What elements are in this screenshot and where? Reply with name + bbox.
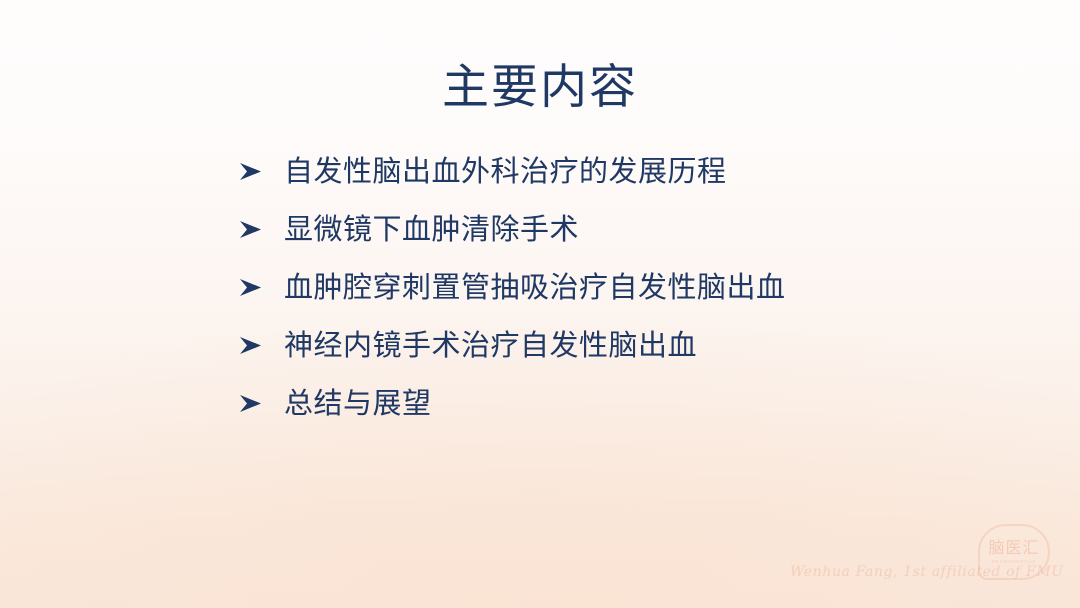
- agenda-list: 自发性脑出血外科治疗的发展历程 显微镜下血肿清除手术 血肿腔穿刺置管抽吸治疗自发…: [238, 152, 1018, 442]
- watermark-byline: Wenhua Fang, 1st affiliated of FMU: [790, 563, 1064, 581]
- list-item-label: 显微镜下血肿清除手术: [284, 210, 1018, 250]
- list-item-label: 血肿腔穿刺置管抽吸治疗自发性脑出血: [284, 268, 1018, 308]
- list-item: 自发性脑出血外科治疗的发展历程: [238, 152, 1018, 210]
- arrow-bullet-icon: [238, 210, 284, 240]
- arrow-bullet-icon: [238, 152, 284, 182]
- list-item-label: 神经内镜手术治疗自发性脑出血: [284, 326, 1018, 366]
- list-item: 总结与展望: [238, 384, 1018, 442]
- list-item-label: 总结与展望: [284, 384, 1018, 424]
- list-item: 血肿腔穿刺置管抽吸治疗自发性脑出血: [238, 268, 1018, 326]
- arrow-bullet-icon: [238, 326, 284, 356]
- watermark-logo-label: 脑医汇: [988, 540, 1039, 558]
- arrow-bullet-icon: [238, 384, 284, 414]
- arrow-bullet-icon: [238, 268, 284, 298]
- presentation-slide: 主要内容 自发性脑出血外科治疗的发展历程 显微镜下血肿清除手术: [0, 0, 1080, 608]
- watermark-logo: 脑医汇 NEUROMEDHUB: [978, 524, 1050, 580]
- list-item-label: 自发性脑出血外科治疗的发展历程: [284, 152, 1018, 192]
- list-item: 显微镜下血肿清除手术: [238, 210, 1018, 268]
- watermark-logo-sublabel: NEUROMEDHUB: [992, 558, 1037, 565]
- list-item: 神经内镜手术治疗自发性脑出血: [238, 326, 1018, 384]
- page-title: 主要内容: [0, 60, 1080, 114]
